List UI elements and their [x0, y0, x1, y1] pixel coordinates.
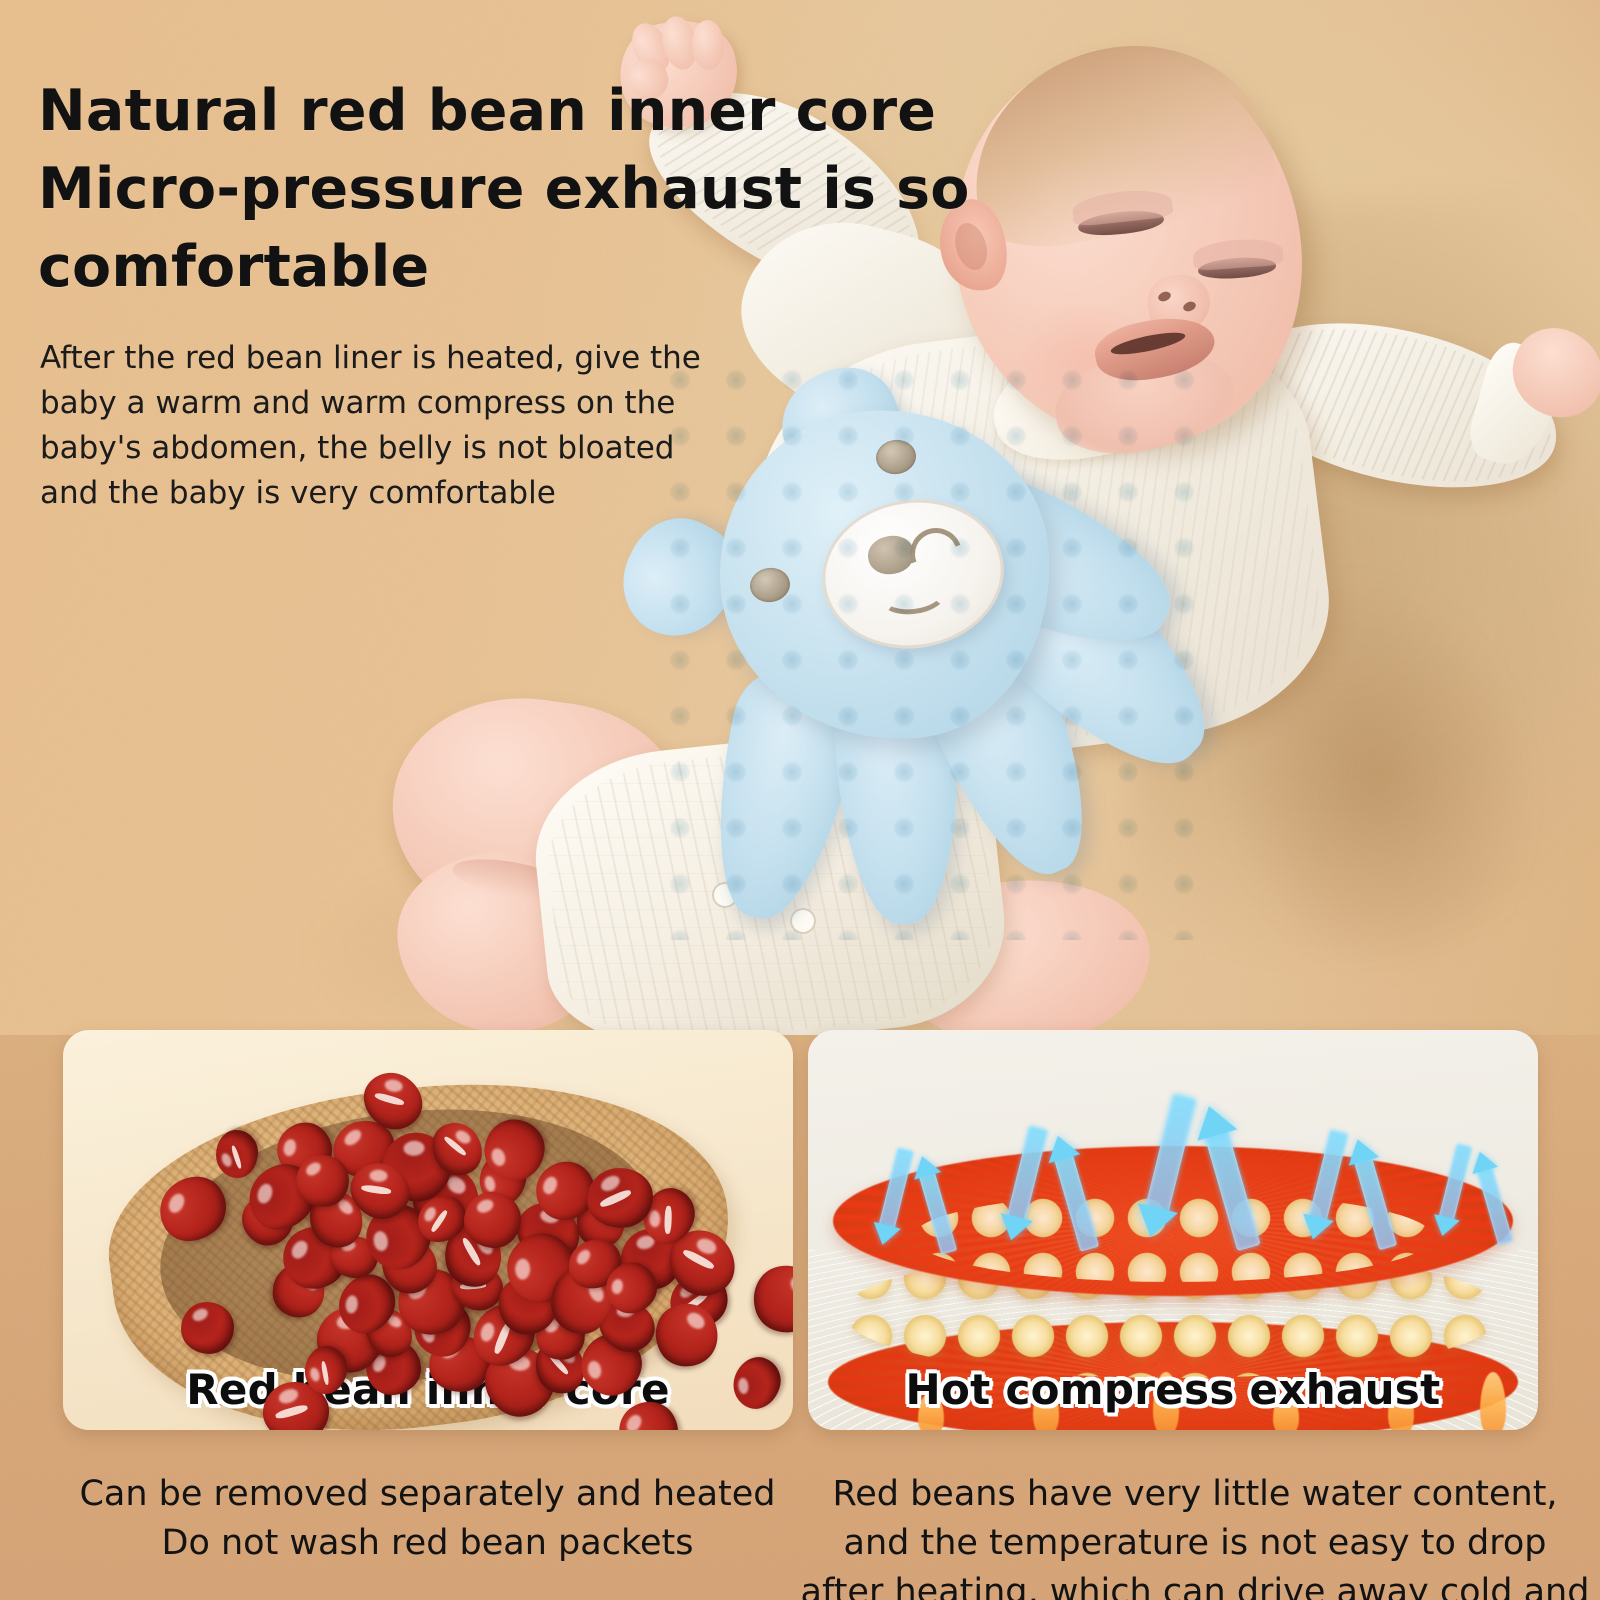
airflow-arrow-pair	[1300, 1130, 1406, 1262]
product-infographic-page: Natural red bean inner coreMicro-pressur…	[0, 0, 1600, 1600]
arrow-up-icon	[905, 1150, 968, 1264]
page-headline: Natural red bean inner coreMicro-pressur…	[38, 72, 978, 306]
card-red-bean-inner-core[interactable]: Red bean inner core	[63, 1030, 793, 1430]
red-bean	[216, 1130, 258, 1178]
airflow-arrow-pair	[998, 1126, 1108, 1264]
airflow-arrow-pair	[1432, 1144, 1521, 1255]
airflow-arrows-group	[808, 1086, 1538, 1246]
arrow-up-icon	[1038, 1128, 1112, 1263]
hero-photo: Natural red bean inner coreMicro-pressur…	[0, 0, 1600, 1035]
arrow-up-icon	[1184, 1097, 1277, 1266]
card-caption-hot-compress: Hot compress exhaust	[808, 1365, 1538, 1414]
arrow-up-icon	[1464, 1146, 1524, 1255]
airflow-arrow-pair	[871, 1148, 965, 1265]
page-body-copy: After the red bean liner is heated, give…	[40, 336, 730, 516]
card-hot-compress-exhaust[interactable]: Hot compress exhaust	[808, 1030, 1538, 1430]
airflow-arrow-pair	[1134, 1094, 1272, 1267]
description-red-bean: Can be removed separately and heatedDo n…	[55, 1470, 800, 1568]
arrow-up-icon	[1339, 1132, 1410, 1261]
description-hot-compress: Red beans have very little water content…	[800, 1470, 1590, 1600]
card-caption-red-bean: Red bean inner core	[63, 1365, 793, 1414]
